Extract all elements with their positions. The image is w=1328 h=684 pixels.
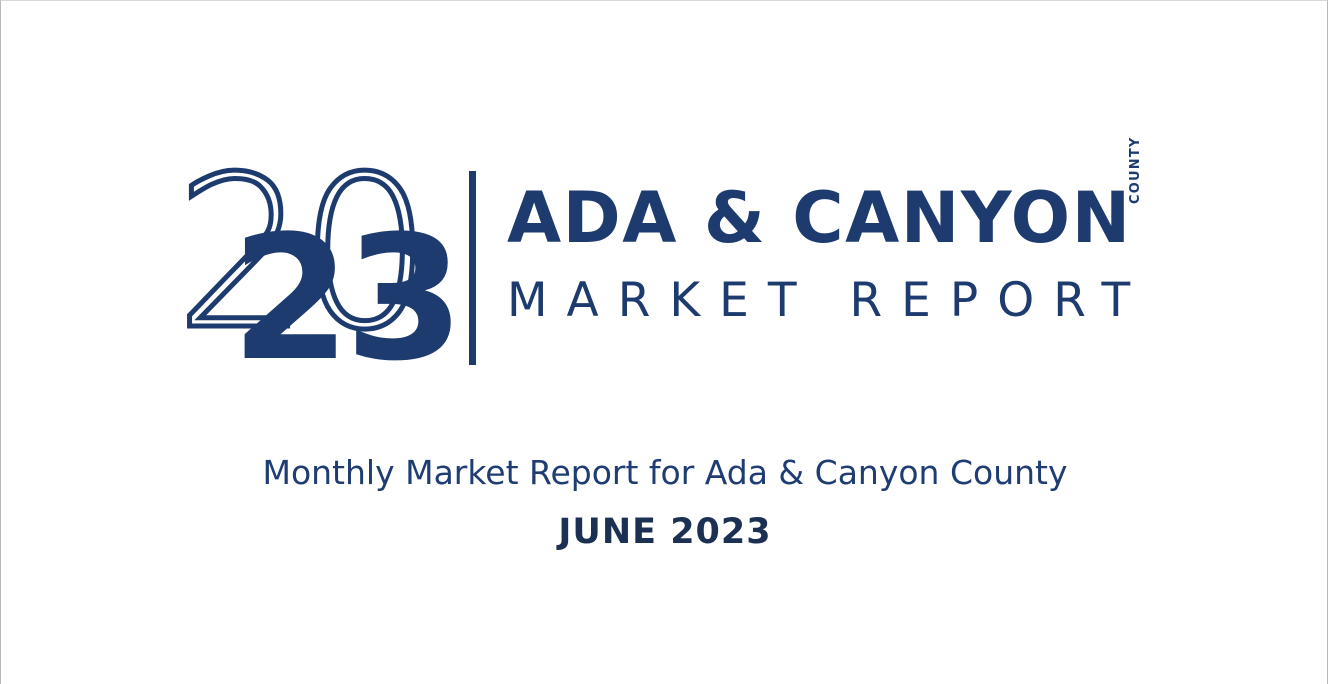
report-cover-page: 20 23 ADA & CANYON COUNTY MARKET REPORT … (0, 0, 1328, 684)
brand-wordmark: ADA & CANYON COUNTY MARKET REPORT (507, 183, 1177, 324)
logo-divider-rule (469, 171, 476, 365)
county-superscript-label: COUNTY (1128, 136, 1143, 204)
wordmark-primary-line: ADA & CANYON (507, 183, 1177, 253)
cover-text-block: Monthly Market Report for Ada & Canyon C… (1, 453, 1328, 553)
report-subtitle: Monthly Market Report for Ada & Canyon C… (1, 453, 1328, 493)
year-mark-2023: 20 23 (169, 161, 459, 373)
year-solid-23: 23 (231, 213, 458, 385)
wordmark-secondary-line: MARKET REPORT (507, 277, 1177, 324)
brand-logo-lockup: 20 23 ADA & CANYON COUNTY MARKET REPORT (169, 161, 1179, 376)
report-date: JUNE 2023 (1, 511, 1328, 553)
